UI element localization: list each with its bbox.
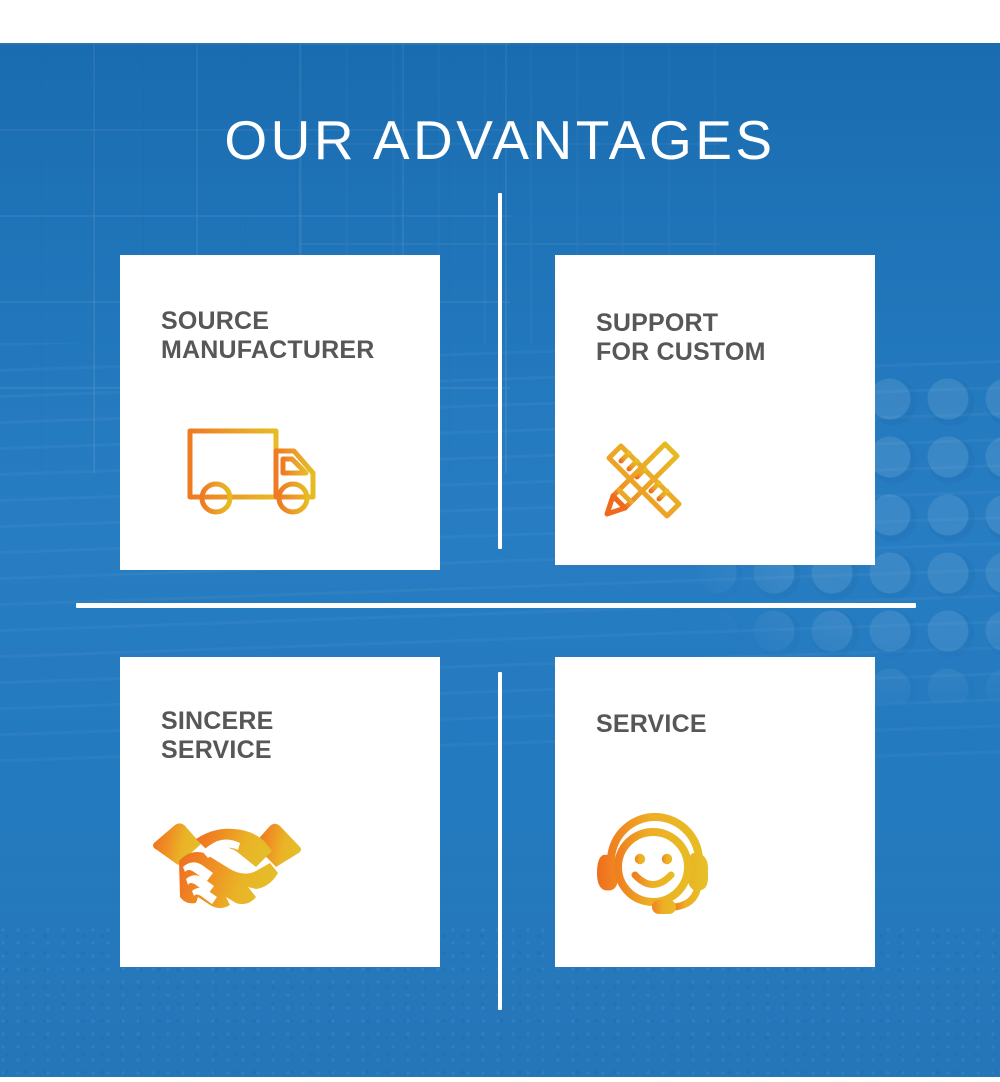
advantage-card-heading: SUPPORT FOR CUSTOM [596,309,766,367]
advantage-card-support-for-custom[interactable]: SUPPORT FOR CUSTOM [555,255,875,565]
divider-vertical-top [498,193,502,549]
advantages-section: OUR ADVANTAGES SOURCE MANUFACTURER [0,0,1000,1082]
advantage-card-heading: SOURCE MANUFACTURER [161,307,375,365]
advantage-card-service[interactable]: SERVICE [555,657,875,967]
advantage-card-sincere-service[interactable]: SINCERE SERVICE [120,657,440,967]
advantage-card-heading: SINCERE SERVICE [161,707,274,765]
pencil-ruler-icon [593,430,693,530]
advantage-card-heading: SERVICE [596,710,707,739]
divider-vertical-bottom [498,672,502,1010]
advantage-card-source-manufacturer[interactable]: SOURCE MANUFACTURER [120,255,440,570]
handshake-icon [152,817,302,912]
delivery-truck-icon [156,415,336,520]
section-title: OUR ADVANTAGES [0,104,1000,176]
headset-smiley-icon [597,797,712,915]
divider-horizontal [76,603,916,608]
